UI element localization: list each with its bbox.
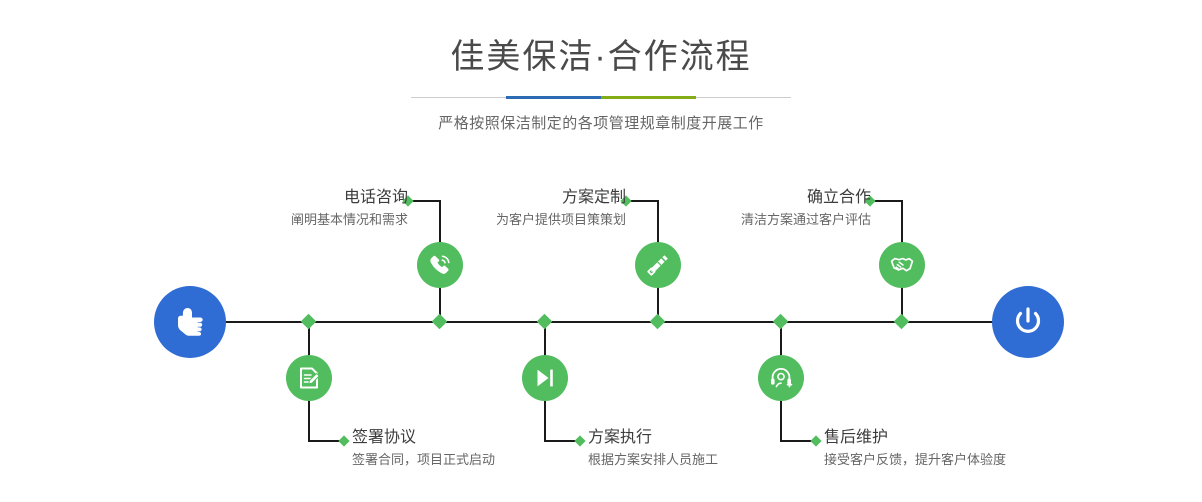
play-next-icon	[532, 365, 558, 391]
step-icon-3[interactable]	[635, 242, 681, 288]
step-title-6: 售后维护	[824, 428, 1006, 447]
axis-marker-1	[432, 314, 448, 330]
pencil-ruler-icon	[645, 252, 671, 278]
connector-horizontal-3	[629, 200, 659, 202]
power-icon	[1009, 303, 1047, 341]
axis-marker-2	[301, 314, 317, 330]
step-icon-5[interactable]	[879, 242, 925, 288]
step-label-3: 方案定制 为客户提供项目策策划	[496, 188, 626, 229]
step-desc-5: 清洁方案通过客户评估	[741, 211, 871, 229]
connector-horizontal-6	[780, 440, 814, 442]
label-marker-2	[338, 435, 349, 446]
headset-support-icon	[768, 365, 794, 391]
label-marker-6	[810, 435, 821, 446]
handshake-icon	[889, 252, 915, 278]
timeline-end-node[interactable]	[992, 286, 1064, 358]
step-desc-1: 阐明基本情况和需求	[291, 211, 408, 229]
step-icon-4[interactable]	[522, 355, 568, 401]
connector-horizontal-5	[873, 200, 903, 202]
step-title-4: 方案执行	[588, 428, 718, 447]
step-desc-3: 为客户提供项目策策划	[496, 211, 626, 229]
axis-marker-5	[894, 314, 910, 330]
step-icon-2[interactable]	[286, 355, 332, 401]
step-label-2: 签署协议 签署合同，项目正式启动	[352, 428, 495, 469]
step-desc-4: 根据方案安排人员施工	[588, 451, 718, 469]
step-title-3: 方案定制	[496, 188, 626, 207]
step-desc-6: 接受客户反馈，提升客户体验度	[824, 451, 1006, 469]
step-icon-6[interactable]	[758, 355, 804, 401]
pointing-hand-icon	[172, 304, 208, 340]
step-desc-2: 签署合同，项目正式启动	[352, 451, 495, 469]
connector-horizontal-2	[308, 440, 342, 442]
step-label-6: 售后维护 接受客户反馈，提升客户体验度	[824, 428, 1006, 469]
process-timeline: 电话咨询 阐明基本情况和需求 签署协议 签署合同，项目正式启动	[0, 0, 1202, 502]
phone-call-icon	[427, 252, 453, 278]
label-marker-4	[574, 435, 585, 446]
step-label-4: 方案执行 根据方案安排人员施工	[588, 428, 718, 469]
timeline-start-node[interactable]	[154, 286, 226, 358]
axis-marker-3	[650, 314, 666, 330]
document-edit-icon	[296, 365, 322, 391]
step-label-5: 确立合作 清洁方案通过客户评估	[741, 188, 871, 229]
step-icon-1[interactable]	[417, 242, 463, 288]
axis-marker-4	[537, 314, 553, 330]
step-title-2: 签署协议	[352, 428, 495, 447]
connector-horizontal-1	[411, 200, 441, 202]
connector-horizontal-4	[544, 440, 578, 442]
step-label-1: 电话咨询 阐明基本情况和需求	[291, 188, 408, 229]
step-title-1: 电话咨询	[291, 188, 408, 207]
axis-marker-6	[773, 314, 789, 330]
step-title-5: 确立合作	[741, 188, 871, 207]
